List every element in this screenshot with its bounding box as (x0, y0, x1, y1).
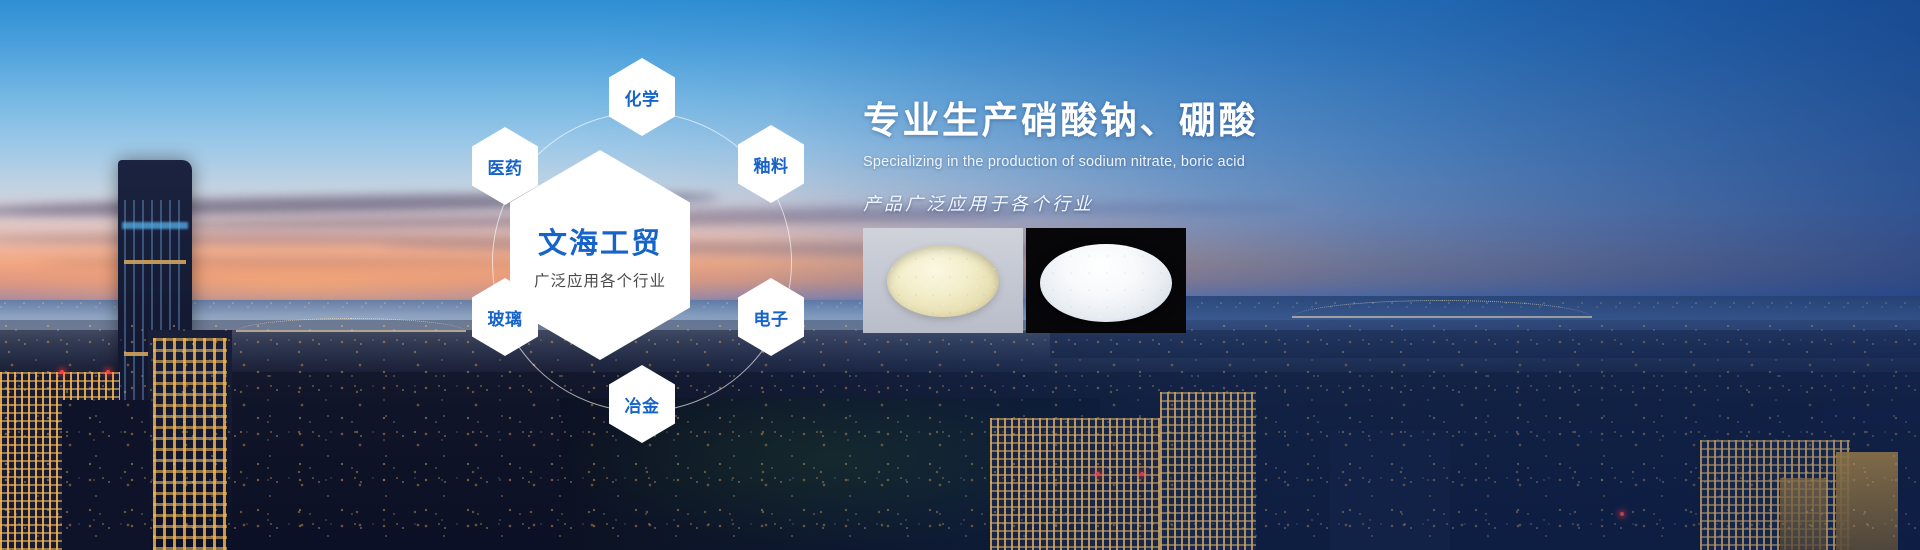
aircraft-warning-light (106, 370, 110, 374)
tagline: 产品广泛应用于各个行业 (863, 190, 1683, 216)
tower-blue-band (122, 222, 188, 229)
powder-grain-texture (1040, 244, 1172, 322)
powder-pile (1040, 244, 1172, 322)
banner-copy: 专业生产硝酸钠、硼酸 Specializing in the productio… (863, 98, 1683, 216)
hex-node-label: 釉料 (754, 152, 789, 177)
hex-node-label: 电子 (754, 305, 789, 330)
aircraft-warning-light (1620, 512, 1624, 516)
powder-grain-texture (887, 245, 999, 317)
aircraft-warning-light (1096, 472, 1100, 476)
product-photo-sodium-nitrate[interactable] (863, 228, 1023, 333)
aircraft-warning-light (60, 370, 64, 374)
aircraft-warning-light (1140, 472, 1144, 476)
headline: 专业生产硝酸钠、硼酸 (863, 98, 1683, 144)
powder-pile (887, 245, 999, 317)
hex-node-label: 化学 (625, 85, 660, 110)
hex-node-label: 冶金 (625, 392, 660, 417)
product-photo-strip (863, 228, 1186, 333)
city-lights-layer (0, 340, 1920, 550)
hex-node-label: 医药 (488, 154, 523, 179)
hex-node-label: 玻璃 (488, 305, 523, 330)
product-photo-boric-acid[interactable] (1026, 228, 1186, 333)
industry-hex-diagram: 文海工贸 广泛应用各个行业 化学 釉料 电子 冶金 玻璃 医药 (400, 20, 880, 520)
company-tagline: 广泛应用各个行业 (534, 269, 666, 291)
promo-banner: 文海工贸 广泛应用各个行业 化学 釉料 电子 冶金 玻璃 医药 专业生产硝酸钠、… (0, 0, 1920, 550)
company-name: 文海工贸 (534, 227, 666, 262)
headline-english: Specializing in the production of sodium… (863, 154, 1683, 170)
